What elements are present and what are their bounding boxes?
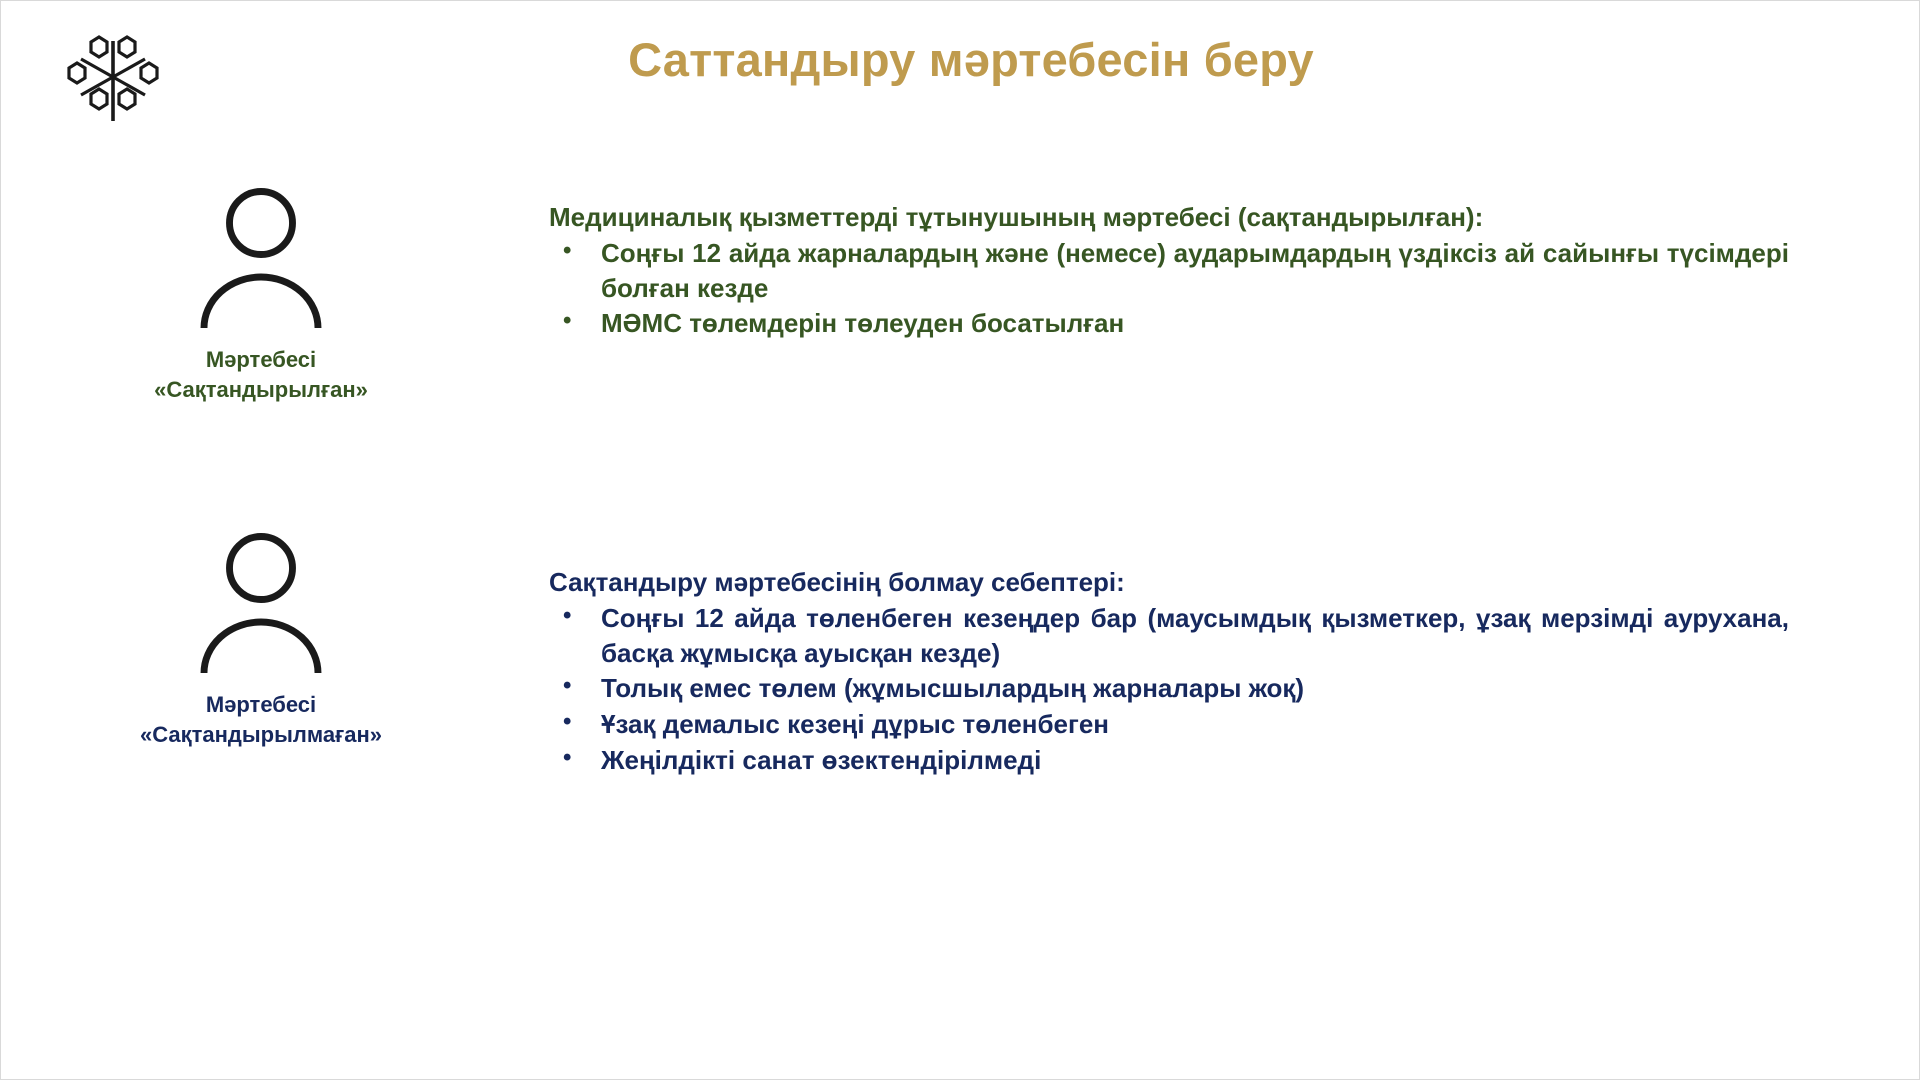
person-label-line2: «Сақтандырылмаған» — [96, 720, 426, 750]
content-block-not-insured: Сақтандыру мәртебесінің болмау себептері… — [549, 566, 1789, 778]
person-label-line1: Мәртебесі — [96, 345, 426, 375]
person-label-line1: Мәртебесі — [96, 690, 426, 720]
person-silhouette-icon — [186, 526, 336, 676]
person-block-not-insured: Мәртебесі «Сақтандырылмаған» — [96, 526, 426, 751]
block-heading-insured: Медициналық қызметтерді тұтынушының мәрт… — [549, 201, 1789, 234]
page-title: Саттандыру мәртебесін беру — [461, 33, 1481, 87]
slide-canvas: Саттандыру мәртебесін беру Мәртебесі «Са… — [0, 0, 1920, 1080]
person-block-insured: Мәртебесі «Сақтандырылған» — [96, 181, 426, 406]
list-item: Соңғы 12 айда төленбеген кезеңдер бар (м… — [549, 601, 1789, 670]
person-silhouette-icon — [186, 181, 336, 331]
list-item: МӘМС төлемдерін төлеуден босатылған — [549, 306, 1789, 341]
person-label-insured: Мәртебесі «Сақтандырылған» — [96, 345, 426, 406]
list-item: Жеңілдікті санат өзектендірілмеді — [549, 743, 1789, 778]
bullet-list-not-insured: Соңғы 12 айда төленбеген кезеңдер бар (м… — [549, 601, 1789, 777]
block-heading-not-insured: Сақтандыру мәртебесінің болмау себептері… — [549, 566, 1789, 599]
person-label-not-insured: Мәртебесі «Сақтандырылмаған» — [96, 690, 426, 751]
list-item: Соңғы 12 айда жарналардың және (немесе) … — [549, 236, 1789, 305]
person-label-line2: «Сақтандырылған» — [96, 375, 426, 405]
content-block-insured: Медициналық қызметтерді тұтынушының мәрт… — [549, 201, 1789, 342]
list-item: Ұзақ демалыс кезеңі дұрыс төленбеген — [549, 707, 1789, 742]
list-item: Толық емес төлем (жұмысшылардың жарналар… — [549, 671, 1789, 706]
hexagonal-snowflake-logo-icon — [59, 27, 167, 127]
bullet-list-insured: Соңғы 12 айда жарналардың және (немесе) … — [549, 236, 1789, 341]
